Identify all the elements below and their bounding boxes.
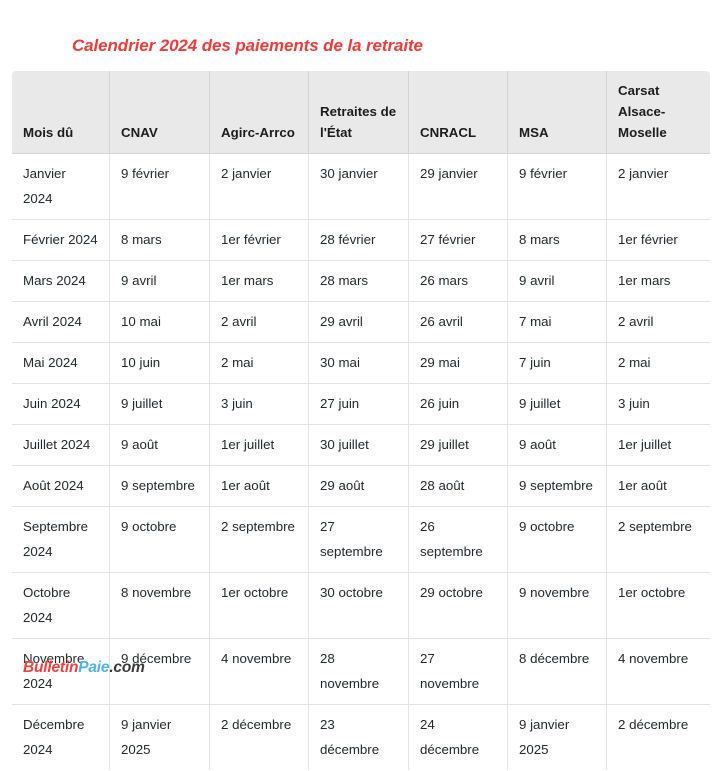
cell-carsat: 2 septembre — [607, 507, 711, 573]
cell-carsat: 1er octobre — [607, 573, 711, 639]
cell-cnracl: 26 juin — [409, 384, 508, 425]
cell-msa: 9 septembre — [508, 466, 607, 507]
page-title: Calendrier 2024 des paiements de la retr… — [72, 35, 423, 57]
cell-agirc-arrco: 1er juillet — [210, 425, 309, 466]
cell-msa: 9 février — [508, 154, 607, 220]
cell-msa: 8 mars — [508, 220, 607, 261]
cell-retraites-etat: 28 novembre — [309, 639, 409, 705]
column-header-msa: MSA — [508, 71, 607, 154]
cell-msa: 9 juillet — [508, 384, 607, 425]
cell-carsat: 2 avril — [607, 302, 711, 343]
cell-carsat: 2 décembre — [607, 705, 711, 771]
cell-agirc-arrco: 2 décembre — [210, 705, 309, 771]
table-header: Mois dû CNAV Agirc-Arrco Retraites de l'… — [12, 71, 711, 154]
cell-msa: 9 octobre — [508, 507, 607, 573]
cell-cnav: 8 novembre — [110, 573, 210, 639]
cell-cnracl: 28 août — [409, 466, 508, 507]
cell-agirc-arrco: 2 mai — [210, 343, 309, 384]
cell-mois: Octobre 2024 — [12, 573, 110, 639]
table-row: Avril 2024 10 mai 2 avril 29 avril 26 av… — [12, 302, 711, 343]
cell-retraites-etat: 30 juillet — [309, 425, 409, 466]
cell-mois: Février 2024 — [12, 220, 110, 261]
column-header-retraites-etat: Retraites de l'État — [309, 71, 409, 154]
cell-msa: 9 août — [508, 425, 607, 466]
cell-cnav: 9 avril — [110, 261, 210, 302]
cell-retraites-etat: 29 août — [309, 466, 409, 507]
cell-cnav: 10 mai — [110, 302, 210, 343]
cell-cnav: 8 mars — [110, 220, 210, 261]
table-row: Mai 2024 10 juin 2 mai 30 mai 29 mai 7 j… — [12, 343, 711, 384]
table-header-row: Mois dû CNAV Agirc-Arrco Retraites de l'… — [12, 71, 711, 154]
cell-msa: 7 mai — [508, 302, 607, 343]
cell-cnracl: 29 janvier — [409, 154, 508, 220]
cell-cnav: 9 octobre — [110, 507, 210, 573]
cell-msa: 9 janvier 2025 — [508, 705, 607, 771]
column-header-agirc-arrco: Agirc-Arrco — [210, 71, 309, 154]
cell-cnav: 9 septembre — [110, 466, 210, 507]
cell-retraites-etat: 29 avril — [309, 302, 409, 343]
logo-part-com: .com — [109, 659, 144, 676]
cell-mois: Janvier 2024 — [12, 154, 110, 220]
cell-mois: Décembre 2024 — [12, 705, 110, 771]
table-row: Septembre 2024 9 octobre 2 septembre 27 … — [12, 507, 711, 573]
cell-retraites-etat: 30 octobre — [309, 573, 409, 639]
cell-cnracl: 27 février — [409, 220, 508, 261]
cell-carsat: 2 janvier — [607, 154, 711, 220]
cell-retraites-etat: 28 février — [309, 220, 409, 261]
cell-mois: Juin 2024 — [12, 384, 110, 425]
cell-cnracl: 26 avril — [409, 302, 508, 343]
cell-cnracl: 29 octobre — [409, 573, 508, 639]
table-row: Décembre 2024 9 janvier 2025 2 décembre … — [12, 705, 711, 771]
page-root: Calendrier 2024 des paiements de la retr… — [0, 0, 721, 711]
cell-retraites-etat: 27 juin — [309, 384, 409, 425]
cell-retraites-etat: 30 mai — [309, 343, 409, 384]
table-row: Juillet 2024 9 août 1er juillet 30 juill… — [12, 425, 711, 466]
cell-cnracl: 24 décembre — [409, 705, 508, 771]
cell-carsat: 3 juin — [607, 384, 711, 425]
table-row: Juin 2024 9 juillet 3 juin 27 juin 26 ju… — [12, 384, 711, 425]
cell-msa: 7 juin — [508, 343, 607, 384]
cell-mois: Avril 2024 — [12, 302, 110, 343]
cell-agirc-arrco: 4 novembre — [210, 639, 309, 705]
cell-mois: Mars 2024 — [12, 261, 110, 302]
cell-carsat: 1er février — [607, 220, 711, 261]
cell-retraites-etat: 27 septembre — [309, 507, 409, 573]
cell-cnav: 10 juin — [110, 343, 210, 384]
cell-mois: Septembre 2024 — [12, 507, 110, 573]
logo-part-bulletin: Bulletin — [23, 659, 78, 676]
column-header-cnav: CNAV — [110, 71, 210, 154]
cell-carsat: 1er mars — [607, 261, 711, 302]
cell-mois: Mai 2024 — [12, 343, 110, 384]
table-row: Janvier 2024 9 février 2 janvier 30 janv… — [12, 154, 711, 220]
cell-msa: 9 novembre — [508, 573, 607, 639]
cell-retraites-etat: 28 mars — [309, 261, 409, 302]
logo-part-paie: Paie — [78, 659, 109, 676]
cell-retraites-etat: 30 janvier — [309, 154, 409, 220]
cell-carsat: 4 novembre — [607, 639, 711, 705]
table-row: Février 2024 8 mars 1er février 28 févri… — [12, 220, 711, 261]
cell-cnracl: 26 mars — [409, 261, 508, 302]
table-row: Août 2024 9 septembre 1er août 29 août 2… — [12, 466, 711, 507]
table-row: Mars 2024 9 avril 1er mars 28 mars 26 ma… — [12, 261, 711, 302]
cell-cnav: 9 janvier 2025 — [110, 705, 210, 771]
table-row: Octobre 2024 8 novembre 1er octobre 30 o… — [12, 573, 711, 639]
cell-carsat: 1er juillet — [607, 425, 711, 466]
cell-cnracl: 29 juillet — [409, 425, 508, 466]
cell-cnracl: 26 septembre — [409, 507, 508, 573]
cell-agirc-arrco: 3 juin — [210, 384, 309, 425]
site-logo[interactable]: BulletinPaie.com — [23, 658, 145, 678]
cell-agirc-arrco: 1er mars — [210, 261, 309, 302]
cell-agirc-arrco: 2 septembre — [210, 507, 309, 573]
column-header-mois-du: Mois dû — [12, 71, 110, 154]
cell-agirc-arrco: 2 janvier — [210, 154, 309, 220]
cell-cnav: 9 juillet — [110, 384, 210, 425]
cell-mois: Juillet 2024 — [12, 425, 110, 466]
cell-agirc-arrco: 1er février — [210, 220, 309, 261]
column-header-carsat-alsace-moselle: Carsat Alsace-Moselle — [607, 71, 711, 154]
cell-cnracl: 29 mai — [409, 343, 508, 384]
cell-retraites-etat: 23 décembre — [309, 705, 409, 771]
cell-agirc-arrco: 1er octobre — [210, 573, 309, 639]
cell-cnav: 9 août — [110, 425, 210, 466]
cell-cnav: 9 février — [110, 154, 210, 220]
cell-mois: Août 2024 — [12, 466, 110, 507]
column-header-cnracl: CNRACL — [409, 71, 508, 154]
cell-agirc-arrco: 1er août — [210, 466, 309, 507]
cell-msa: 9 avril — [508, 261, 607, 302]
cell-carsat: 2 mai — [607, 343, 711, 384]
cell-agirc-arrco: 2 avril — [210, 302, 309, 343]
cell-msa: 8 décembre — [508, 639, 607, 705]
cell-carsat: 1er août — [607, 466, 711, 507]
cell-cnracl: 27 novembre — [409, 639, 508, 705]
